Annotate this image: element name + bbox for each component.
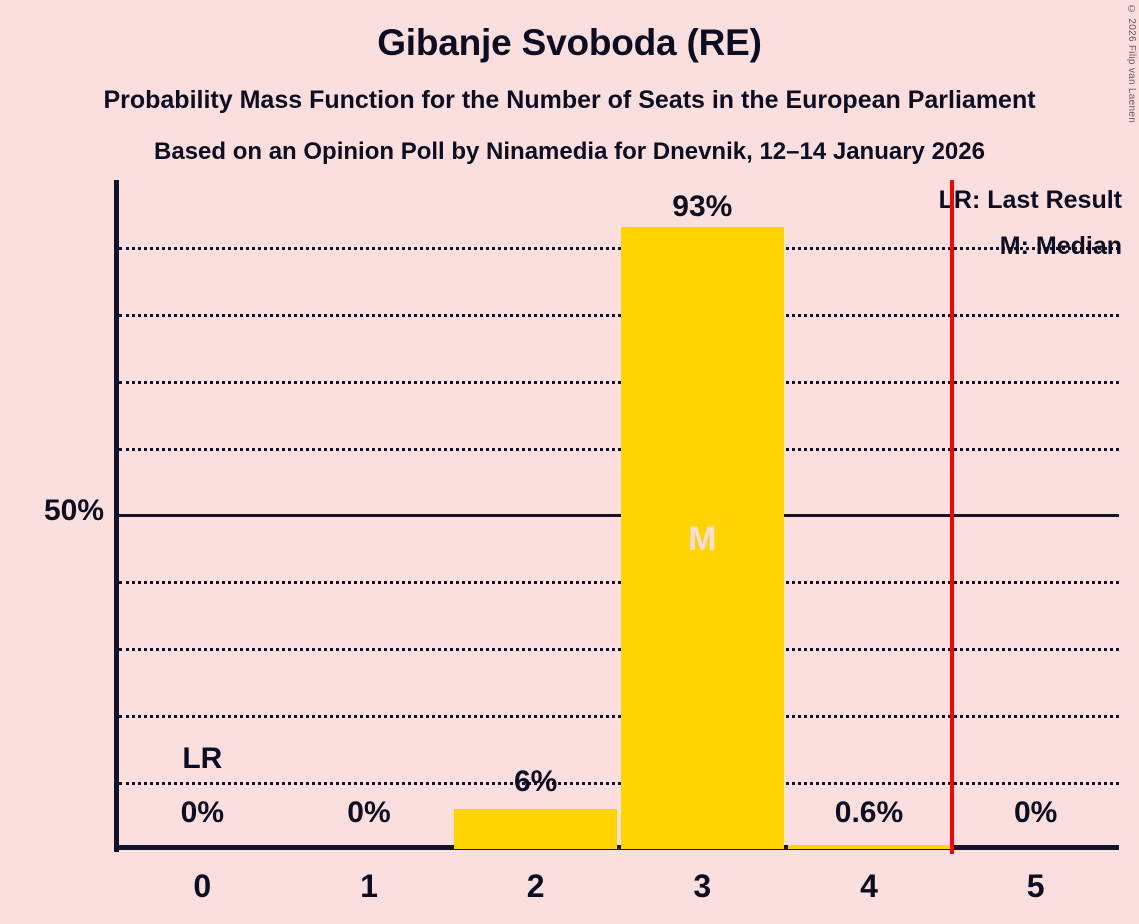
y-axis-tick-label: 50% <box>44 494 104 528</box>
bar-value-label: 93% <box>619 190 786 224</box>
chart-subtitle: Probability Mass Function for the Number… <box>0 86 1139 115</box>
x-axis-tick-label: 1 <box>286 868 453 905</box>
axis-gridline <box>119 381 1119 384</box>
bar-value-label: 0.6% <box>786 796 953 830</box>
chart-source-line: Based on an Opinion Poll by Ninamedia fo… <box>0 138 1139 166</box>
axis-gridline <box>119 715 1119 718</box>
axis-gridline <box>119 448 1119 451</box>
legend-last-result: LR: Last Result <box>939 186 1122 215</box>
bar-value-label: 0% <box>952 796 1119 830</box>
axis-gridline <box>119 648 1119 651</box>
axis-gridline <box>119 314 1119 317</box>
legend-median: M: Median <box>1000 232 1122 261</box>
median-marker: M <box>619 520 786 559</box>
last-result-marker: LR <box>119 742 286 776</box>
chart-title: Gibanje Svoboda (RE) <box>0 22 1139 64</box>
bar-value-label: 0% <box>286 796 453 830</box>
chart-root: © 2026 Filip van Laenen Gibanje Svoboda … <box>0 0 1139 924</box>
x-axis-tick-label: 2 <box>452 868 619 905</box>
x-axis-tick-label: 4 <box>786 868 953 905</box>
x-axis-tick-label: 5 <box>952 868 1119 905</box>
bar[interactable] <box>788 845 951 849</box>
axis-gridline-major <box>119 514 1119 517</box>
x-axis-tick-label: 0 <box>119 868 286 905</box>
bar[interactable] <box>454 809 617 849</box>
last-result-line <box>950 180 954 854</box>
bar-value-label: 6% <box>452 765 619 799</box>
bar-value-label: 0% <box>119 796 286 830</box>
x-axis-tick-label: 3 <box>619 868 786 905</box>
axis-gridline <box>119 782 1119 785</box>
axis-gridline <box>119 581 1119 584</box>
axis-gridline <box>119 247 1119 250</box>
